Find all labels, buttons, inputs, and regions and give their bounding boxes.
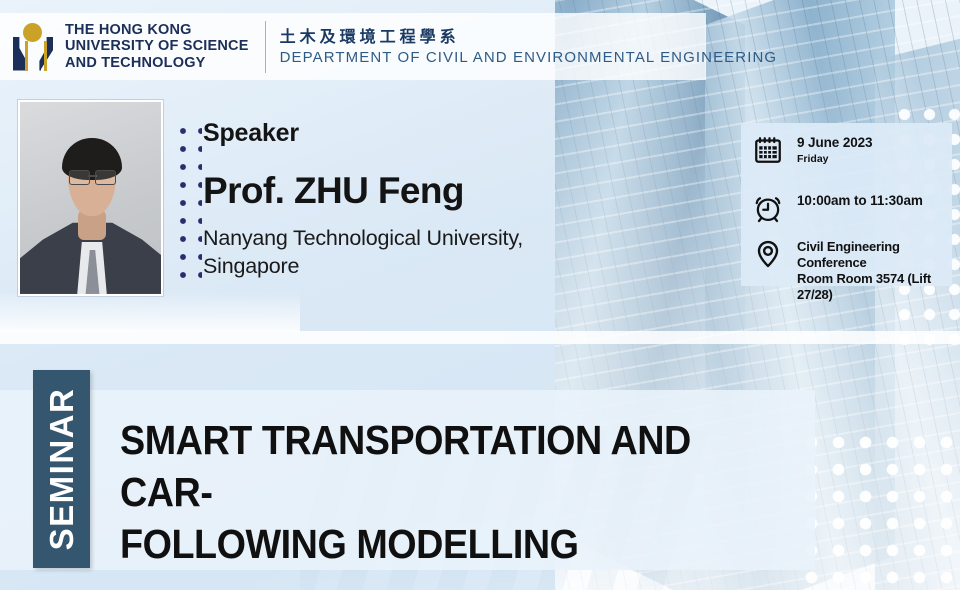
department-name-english: DEPARTMENT OF CIVIL AND ENVIRONMENTAL EN… [280,48,706,68]
white-dot-grid-bottom [793,424,960,590]
speaker-label: Speaker [203,118,603,148]
navy-dot-grid-decoration [172,120,202,290]
glasses-icon [69,170,116,183]
speaker-affiliation: Nanyang Technological University, Singap… [203,224,603,280]
university-name-line2: UNIVERSITY OF SCIENCE [65,38,249,55]
department-name: 土木及環境工程學系 DEPARTMENT OF CIVIL AND ENVIRO… [280,26,706,68]
seminar-badge-label: SEMINAR [43,388,81,551]
header: THE HONG KONG UNIVERSITY OF SCIENCE AND … [0,13,706,80]
speaker-block: Speaker Prof. ZHU Feng Nanyang Technolog… [203,118,603,280]
upper-fade [0,292,300,332]
speaker-portrait [18,100,163,296]
calendar-icon [753,135,785,167]
speaker-affiliation-line2: Singapore [203,252,603,280]
seminar-poster: THE HONG KONG UNIVERSITY OF SCIENCE AND … [0,0,960,590]
seminar-title-line1: SMART TRANSPORTATION AND CAR- [120,414,764,518]
event-date-row: 9 June 2023 Friday [753,135,872,167]
event-venue-line2: Room Room 3574 (Lift 27/28) [797,271,952,303]
event-time: 10:00am to 11:30am [797,193,923,209]
seminar-badge: SEMINAR [33,370,90,568]
university-name: THE HONG KONG UNIVERSITY OF SCIENCE AND … [65,22,249,72]
event-date: 9 June 2023 [797,135,872,151]
event-weekday: Friday [797,152,872,166]
mid-separator-band [0,331,960,344]
alarm-clock-icon [753,193,785,225]
hkust-logo-icon [10,21,56,73]
event-venue-line1: Civil Engineering Conference [797,239,952,271]
event-info-card: 9 June 2023 Friday 10:00am to 11:30am [741,123,952,286]
seminar-title: SMART TRANSPORTATION AND CAR- FOLLOWING … [120,414,764,570]
header-divider [265,21,266,73]
university-name-line3: AND TECHNOLOGY [65,55,249,72]
seminar-title-line2: FOLLOWING MODELLING [120,518,764,570]
university-name-line1: THE HONG KONG [65,22,249,39]
department-name-chinese: 土木及環境工程學系 [280,26,706,48]
speaker-affiliation-line1: Nanyang Technological University, [203,224,603,252]
speaker-name: Prof. ZHU Feng [203,170,603,212]
event-time-row: 10:00am to 11:30am [753,193,923,225]
event-venue-row: Civil Engineering Conference Room Room 3… [753,239,952,303]
location-pin-icon [753,239,785,271]
